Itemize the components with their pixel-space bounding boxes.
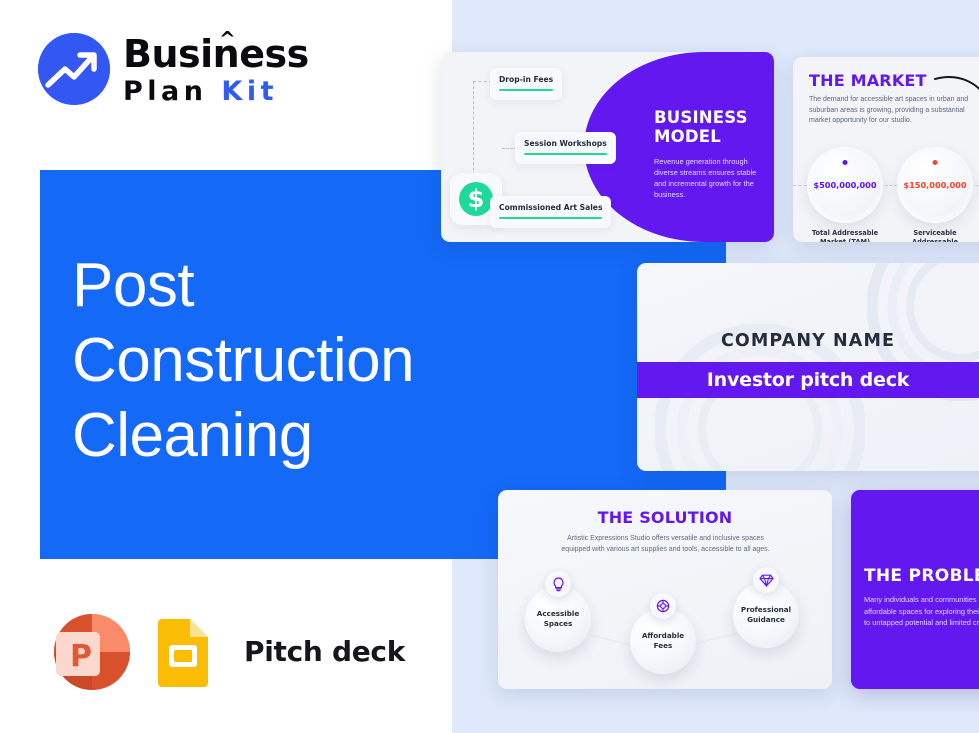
diamond-icon (753, 567, 779, 593)
metric-dot-icon (843, 160, 848, 165)
target-icon (650, 593, 676, 619)
metric-dot-icon (933, 160, 938, 165)
poster-canvas: Business ^ Plan Kit Post Construction Cl… (0, 0, 979, 733)
revenue-stream-label: Drop-in Fees (499, 75, 553, 84)
underline-bar (499, 89, 553, 91)
page-title-line3: Cleaning (72, 398, 414, 473)
brand-name-line1-text: Business (123, 32, 309, 76)
revenue-stream-item[interactable]: Drop-in Fees (490, 68, 562, 100)
solution-title: THE SOLUTION (498, 508, 832, 527)
pitch-deck-subtitle: Investor pitch deck (637, 362, 979, 398)
revenue-stream-item[interactable]: Session Workshops (515, 132, 616, 164)
solution-node-circle: Professional Guidance (733, 582, 799, 648)
solution-body: Artistic Expressions Studio offers versa… (558, 534, 773, 555)
metric-caption-line1: Total Addressable (800, 229, 890, 238)
solution-node-label-line1: Accessible (537, 609, 579, 618)
solution-node-label-line1: Affordable (642, 631, 684, 640)
solution-node-circle: Affordable Fees (630, 608, 696, 674)
underline-bar (499, 217, 602, 219)
slide-business-model[interactable]: $ Drop-in Fees Session Workshops Commiss… (441, 52, 774, 242)
market-metric-tam[interactable]: $500,000,000 Total Addressable Market (T… (807, 147, 890, 242)
metric-caption-line2: Market (TAM) (800, 238, 890, 242)
metric-amount: $150,000,000 (903, 180, 966, 190)
slide-the-solution[interactable]: THE SOLUTION Artistic Expressions Studio… (498, 490, 832, 689)
brand-name-line2: Plan Kit (123, 78, 309, 105)
business-model-body: Revenue generation through diverse strea… (654, 156, 767, 200)
metric-amount: $500,000,000 (813, 180, 876, 190)
problem-body: Many individuals and communities lack ac… (864, 594, 979, 629)
market-title: THE MARKET (809, 71, 927, 90)
solution-node-label-line1: Professional (741, 605, 791, 614)
dollar-symbol: $ (459, 182, 493, 216)
solution-node-affordable-fees[interactable]: Affordable Fees (630, 608, 696, 674)
market-metric-sam[interactable]: $150,000,000 Serviceable Addressable Mar… (897, 147, 979, 242)
circumflex-accent-icon: ^ (219, 29, 235, 49)
revenue-stream-label: Session Workshops (524, 139, 607, 148)
slide-the-market[interactable]: THE MARKET The demand for accessible art… (793, 57, 979, 242)
problem-title: THE PROBLEM (864, 566, 979, 586)
brand-wordmark: Business ^ Plan Kit (123, 33, 309, 105)
metric-caption-line1: Serviceable Addressable (890, 229, 979, 242)
business-model-title-line2: MODEL (654, 127, 772, 146)
metric-caption: Serviceable Addressable Market (SAM) (890, 229, 979, 242)
solution-node-label: Accessible Spaces (537, 609, 579, 629)
solution-node-label-line2: Fees (654, 641, 673, 650)
powerpoint-icon: P (40, 608, 132, 694)
trend-arrow-circle-icon (38, 33, 110, 105)
lightbulb-icon (545, 571, 571, 597)
solution-node-label-line2: Guidance (747, 615, 785, 624)
page-title: Post Construction Cleaning (72, 248, 414, 473)
business-model-title-line1: BUSINESS (654, 108, 772, 127)
metric-caption: Total Addressable Market (TAM) (800, 229, 890, 242)
company-name: COMPANY NAME (637, 331, 979, 351)
slide-title-cover[interactable]: COMPANY NAME Investor pitch deck (637, 263, 979, 471)
metric-circle: $150,000,000 (897, 147, 973, 223)
solution-node-professional-guidance[interactable]: Professional Guidance (733, 582, 799, 648)
brand-logo: Business ^ Plan Kit (38, 33, 309, 105)
brand-name-line1: Business ^ (123, 35, 309, 73)
page-title-line1: Post (72, 248, 414, 323)
solution-connector (695, 633, 738, 645)
business-model-title: BUSINESS MODEL (654, 108, 772, 146)
brand-name-kit: Kit (221, 76, 278, 107)
solution-node-label: Professional Guidance (741, 605, 791, 625)
brand-name-plan: Plan (123, 76, 208, 107)
metric-circle: $500,000,000 (807, 147, 883, 223)
google-slides-icon (154, 615, 212, 687)
revenue-stream-label: Commissioned Art Sales (499, 203, 602, 212)
page-title-line2: Construction (72, 323, 414, 398)
revenue-stream-item[interactable]: Commissioned Art Sales (490, 196, 611, 228)
solution-node-label-line2: Spaces (544, 619, 573, 628)
slide-the-problem[interactable]: THE PROBLEM Many individuals and communi… (851, 490, 979, 689)
solution-node-label: Affordable Fees (642, 631, 684, 651)
pitch-deck-band: Investor pitch deck (637, 362, 979, 398)
solution-node-accessible-spaces[interactable]: Accessible Spaces (525, 586, 591, 652)
solution-connector (591, 635, 634, 647)
format-footer: P Pitch deck (40, 608, 405, 694)
underline-bar (524, 153, 607, 155)
market-connector (793, 185, 807, 186)
format-label: Pitch deck (244, 635, 405, 668)
solution-node-circle: Accessible Spaces (525, 586, 591, 652)
market-body: The demand for accessible art spaces in … (809, 95, 969, 127)
